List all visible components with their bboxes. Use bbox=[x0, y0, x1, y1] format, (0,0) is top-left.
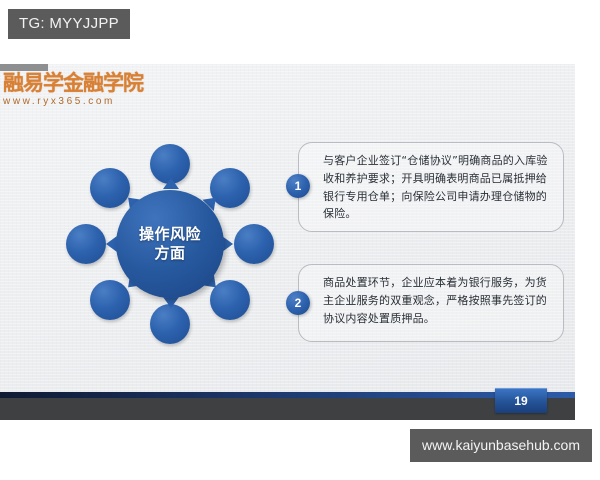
bullet-number-badge-1: 1 bbox=[286, 174, 310, 198]
diagram-center-label: 操作风险 方面 bbox=[139, 225, 201, 263]
slide-corner-tab bbox=[0, 64, 48, 71]
satellite-circle-w bbox=[66, 224, 106, 264]
arrow-n bbox=[163, 178, 179, 189]
footer-accent-line bbox=[0, 392, 575, 398]
center-label-line-1: 操作风险 bbox=[139, 225, 201, 244]
slide-canvas: 融易学金融学院 www.ryx365.com 操作风险 方面 1 bbox=[0, 64, 575, 420]
satellite-circle-e bbox=[234, 224, 274, 264]
center-label-line-2: 方面 bbox=[139, 244, 201, 263]
diagram-center-circle: 操作风险 方面 bbox=[116, 190, 224, 298]
logo-name-text: 融易学金融学院 bbox=[3, 73, 143, 94]
bullet-callout-1: 与客户企业签订“仓储协议”明确商品的入库验收和养护要求；开具明确表明商品已属抵押… bbox=[298, 142, 564, 232]
bullet-callout-2: 商品处置环节，企业应本着为银行服务，为货主企业服务的双重观念，严格按照事先签订的… bbox=[298, 264, 564, 342]
logo-url-text: www.ryx365.com bbox=[3, 97, 143, 107]
bullet-text-1: 与客户企业签订“仓储协议”明确商品的入库验收和养护要求；开具明确表明商品已属抵押… bbox=[299, 143, 563, 232]
satellite-circle-sw bbox=[90, 280, 130, 320]
page-number-badge: 19 bbox=[495, 388, 547, 413]
arrow-s bbox=[163, 297, 179, 308]
slide-footer-bar: 19 bbox=[0, 392, 575, 420]
satellite-circle-s bbox=[150, 304, 190, 344]
bullet-number-badge-2: 2 bbox=[286, 291, 310, 315]
bottom-watermark-tag: www.kaiyunbasehub.com bbox=[410, 429, 592, 462]
bullet-text-2: 商品处置环节，企业应本着为银行服务，为货主企业服务的双重观念，严格按照事先签订的… bbox=[299, 265, 563, 336]
radial-diagram: 操作风险 方面 bbox=[62, 144, 292, 344]
top-watermark-tag: TG: MYYJJPP bbox=[8, 9, 130, 39]
institution-logo: 融易学金融学院 www.ryx365.com bbox=[3, 73, 143, 107]
